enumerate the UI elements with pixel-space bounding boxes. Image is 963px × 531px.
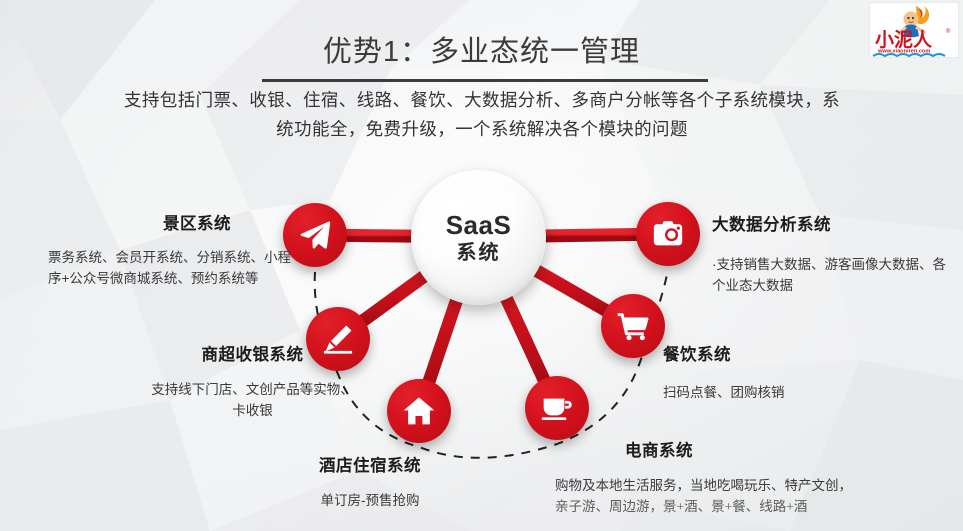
label-ecommerce-desc-line1: 购物及本地生活服务，当地吃喝玩乐、特产文创，	[555, 475, 955, 496]
label-bigdata-title: 大数据分析系统	[712, 211, 952, 235]
label-hotel-title: 酒店住宿系统	[265, 452, 475, 476]
hub-label-line1: SaaS	[446, 210, 512, 240]
label-catering: 餐饮系统 扫码点餐、团购核销	[663, 341, 893, 403]
hub-node[interactable]: SaaS 系统	[411, 170, 546, 305]
label-hotel-desc: 单订房-预售抢购	[265, 490, 475, 511]
node-ecommerce[interactable]	[525, 376, 589, 440]
shopping-cart-icon	[616, 309, 650, 343]
node-hotel[interactable]	[387, 379, 451, 443]
label-scenic-desc: 票务系统、会员开系统、分销系统、小程序+公众号微商城系统、预约系统等	[48, 247, 298, 289]
camera-icon	[651, 217, 685, 251]
label-catering-title: 餐饮系统	[663, 341, 893, 365]
label-catering-desc: 扫码点餐、团购核销	[663, 382, 893, 403]
label-ecommerce-desc-line2: 亲子游、周边游，景+酒、景+餐、线路+酒	[555, 496, 955, 517]
coffee-cup-icon	[540, 391, 574, 425]
node-catering[interactable]	[601, 294, 665, 358]
label-ecommerce: 电商系统 购物及本地生活服务，当地吃喝玩乐、特产文创， 亲子游、周边游，景+酒、…	[625, 437, 963, 517]
paper-plane-icon	[298, 218, 332, 252]
label-retail-title: 商超收银系统	[150, 341, 355, 365]
label-bigdata-desc: ·支持销售大数据、游客画像大数据、各个业态大数据	[712, 254, 952, 296]
label-ecommerce-title: 电商系统	[625, 437, 963, 461]
label-bigdata: 大数据分析系统 ·支持销售大数据、游客画像大数据、各个业态大数据	[712, 211, 952, 296]
label-retail-desc: 支持线下门店、文创产品等实物、卡收银	[150, 379, 355, 421]
node-bigdata[interactable]	[636, 202, 700, 266]
label-retail: 商超收银系统 支持线下门店、文创产品等实物、卡收银	[150, 341, 355, 421]
slide-canvas: 优势1：多业态统一管理 支持包括门票、收银、住宿、线路、餐饮、大数据分析、多商户…	[0, 0, 963, 531]
label-hotel: 酒店住宿系统 单订房-预售抢购	[265, 452, 475, 511]
label-scenic: 景区系统 票务系统、会员开系统、分销系统、小程序+公众号微商城系统、预约系统等	[48, 210, 298, 289]
hub-label-line2: 系统	[457, 240, 501, 266]
home-icon	[402, 394, 436, 428]
label-scenic-title: 景区系统	[48, 210, 298, 234]
